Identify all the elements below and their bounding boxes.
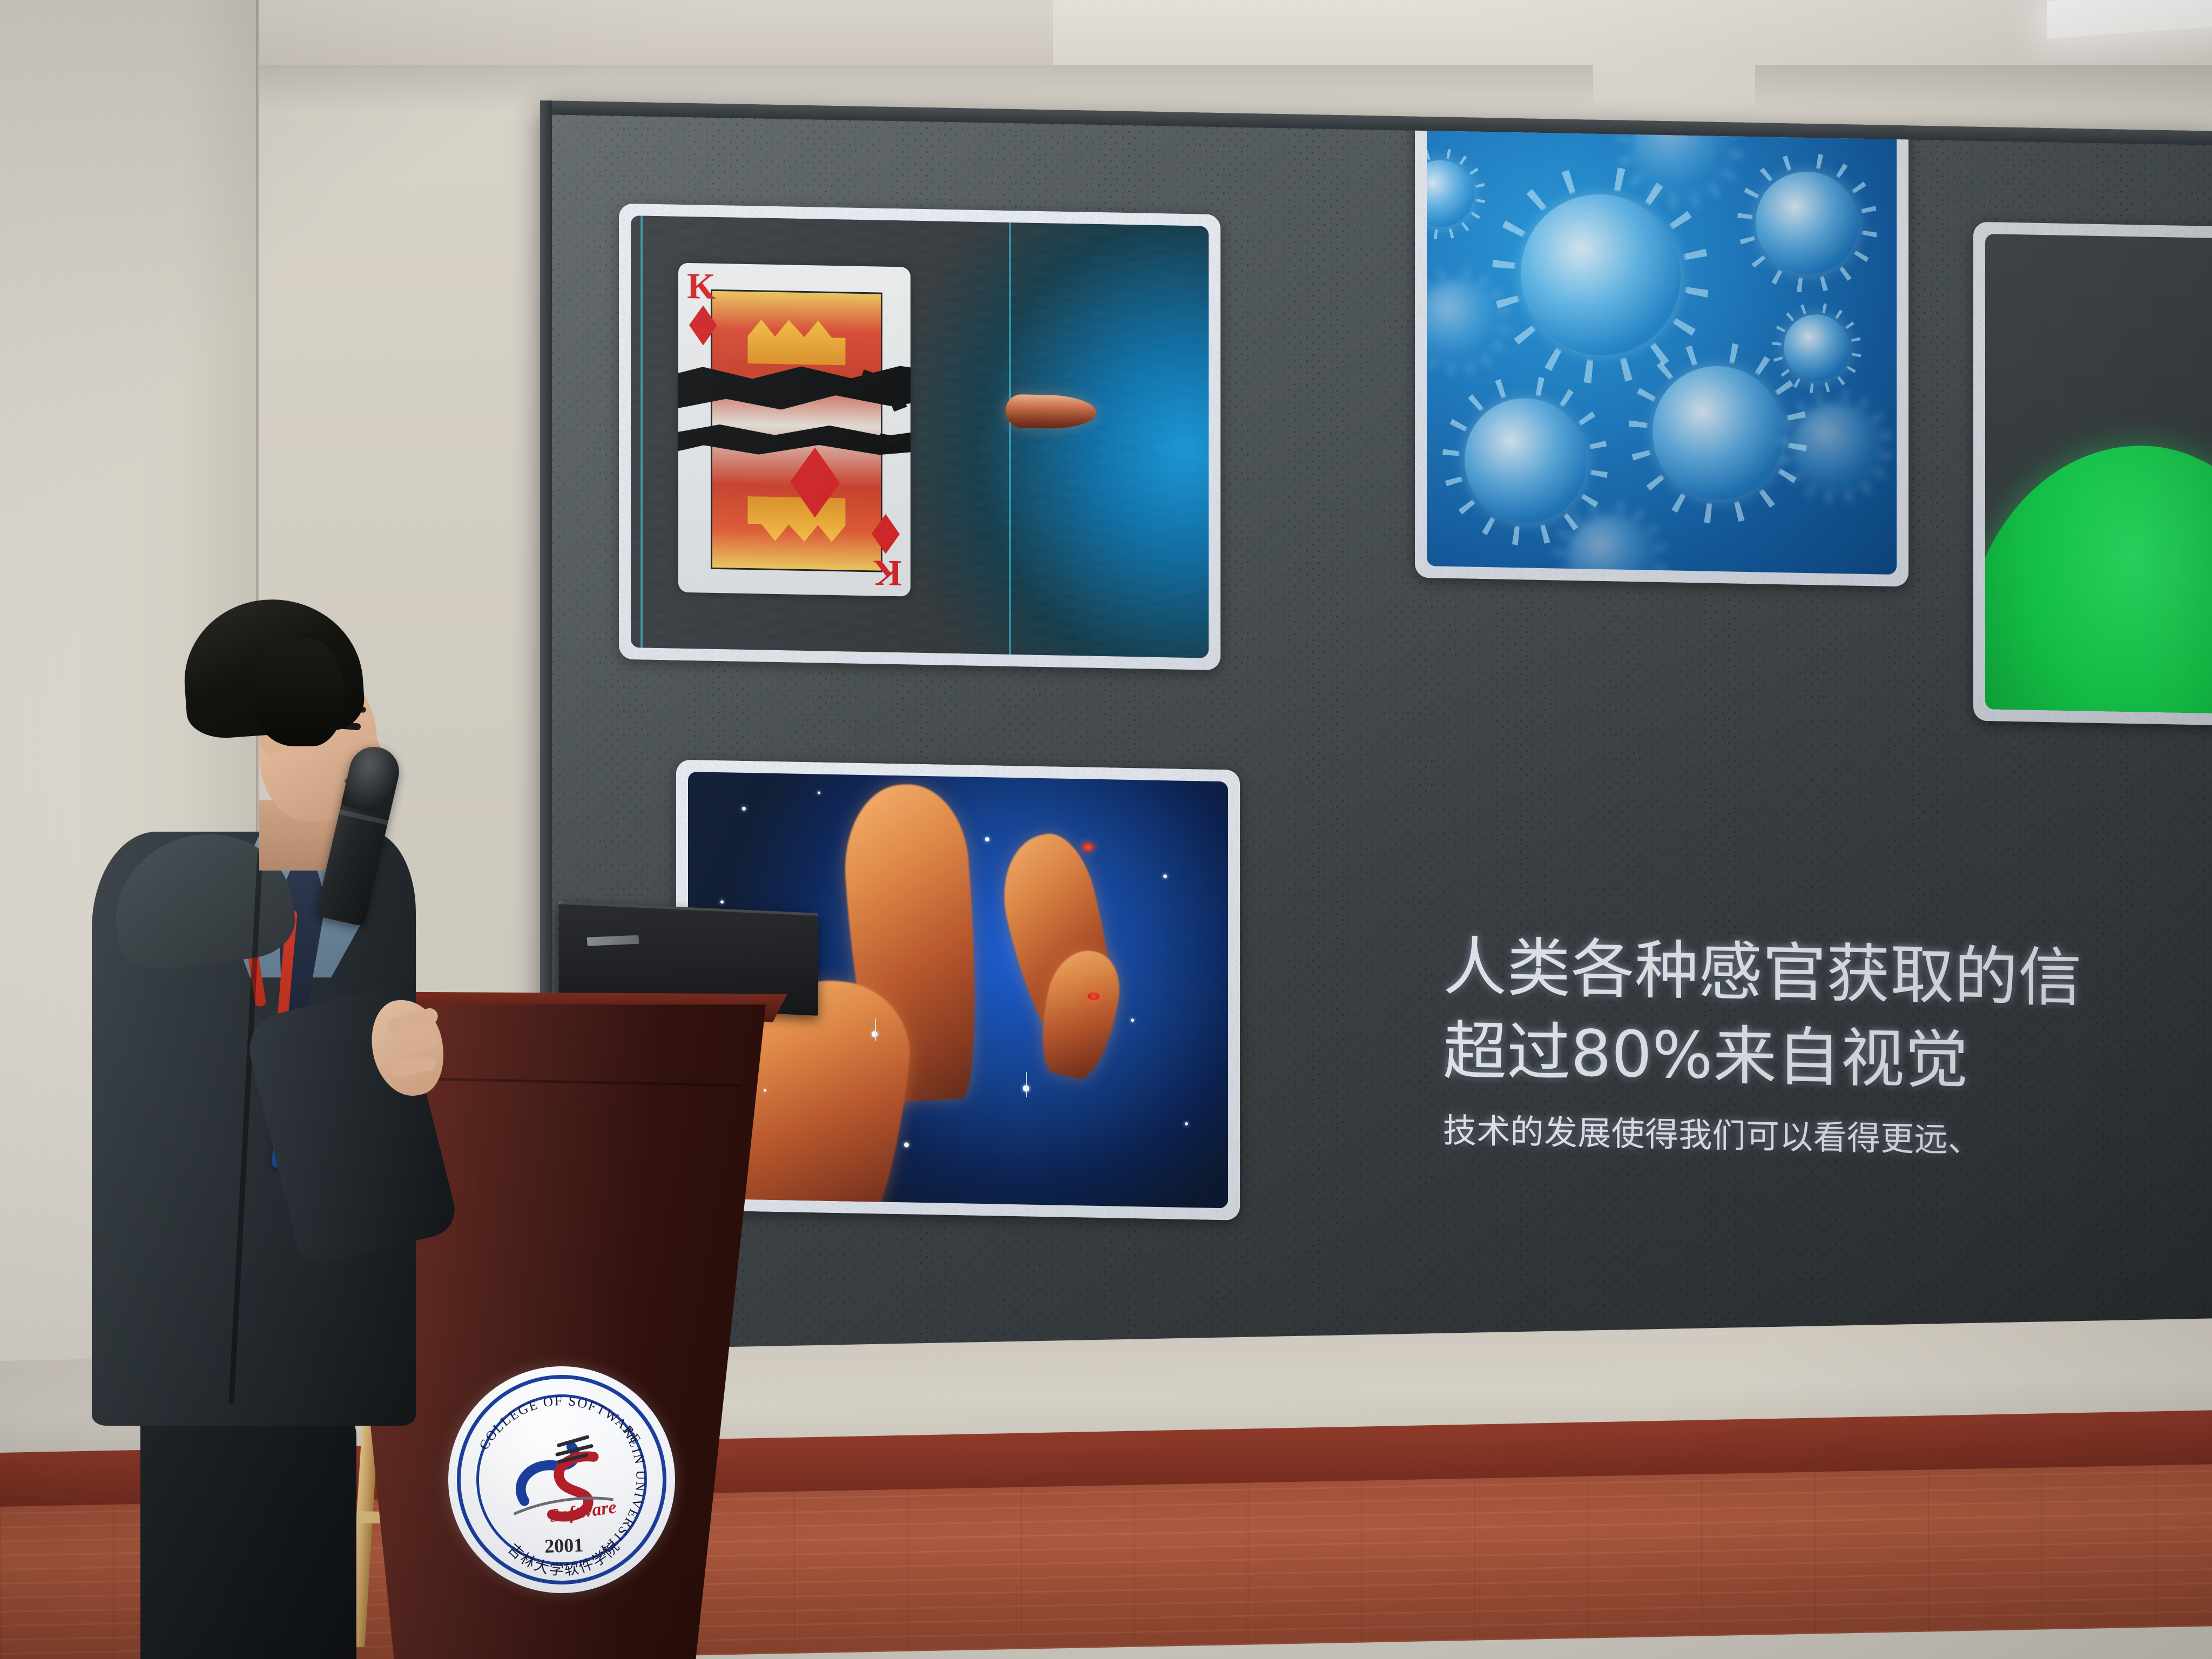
green-subject — [1985, 442, 2212, 716]
card-crown-top — [748, 319, 846, 365]
presenter-hair-side — [253, 638, 345, 746]
cyan-edge-left — [640, 215, 643, 648]
laptop-logo — [586, 935, 639, 946]
playing-card-king-of-diamonds: K K — [678, 263, 911, 597]
coronavirus-photo — [1427, 120, 1897, 575]
virion — [1653, 365, 1784, 501]
star-spike — [1026, 1073, 1027, 1097]
cyan-edge-right — [1009, 222, 1011, 655]
slide-headline-line1: 人类各种感官获取的信 — [1443, 925, 2212, 1024]
bullet-photo: K K — [631, 215, 1209, 658]
lecture-hall-scene: K K — [0, 0, 2212, 1659]
virion — [1521, 193, 1681, 356]
virion-blurred — [1793, 403, 1878, 490]
presentation-screen[interactable]: K K — [540, 100, 2212, 1390]
star — [720, 900, 724, 903]
nebula-hot-tip — [1082, 843, 1094, 851]
star — [764, 1089, 766, 1091]
slide-headline-line2: 超过80%来自视觉 — [1443, 1009, 2212, 1108]
card-rank-bottom: K — [873, 555, 902, 592]
slide-image-coronavirus — [1415, 114, 1908, 586]
virion-blurred — [1568, 515, 1653, 575]
emblem-year: 2001 — [544, 1533, 584, 1557]
presenter-legs — [140, 1399, 356, 1659]
star — [818, 791, 820, 794]
virion — [1465, 397, 1587, 524]
slide-image-night-vision — [1973, 222, 2212, 729]
star — [985, 837, 989, 841]
star — [742, 807, 746, 811]
nebula-hot-tip — [1088, 993, 1100, 1000]
star-spike — [875, 1019, 876, 1041]
card-crown-bottom — [748, 496, 846, 542]
star — [904, 1143, 909, 1148]
virion — [1756, 171, 1859, 275]
star — [1163, 874, 1167, 878]
slide-subtext: 技术的发展使得我们可以看得更远、 — [1443, 1105, 2212, 1170]
slide-text-block: 人类各种感官获取的信 超过80%来自视觉 技术的发展使得我们可以看得更远、 — [1443, 925, 2212, 1170]
night-vision-photo — [1985, 234, 2212, 716]
virion — [1427, 160, 1474, 228]
slide-canvas: K K — [552, 114, 2212, 1373]
star — [1185, 1122, 1188, 1125]
card-rank-top: K — [687, 267, 716, 305]
slide-image-bullet-card: K K — [619, 204, 1220, 670]
university-emblem: COLLEGE OF SOFTWARE JILIN UNIVERSITY 吉林大… — [444, 1363, 679, 1597]
wall-shadow — [0, 65, 2212, 113]
virion — [1784, 314, 1850, 382]
virion-blurred — [1427, 280, 1498, 362]
star — [1131, 1019, 1134, 1022]
